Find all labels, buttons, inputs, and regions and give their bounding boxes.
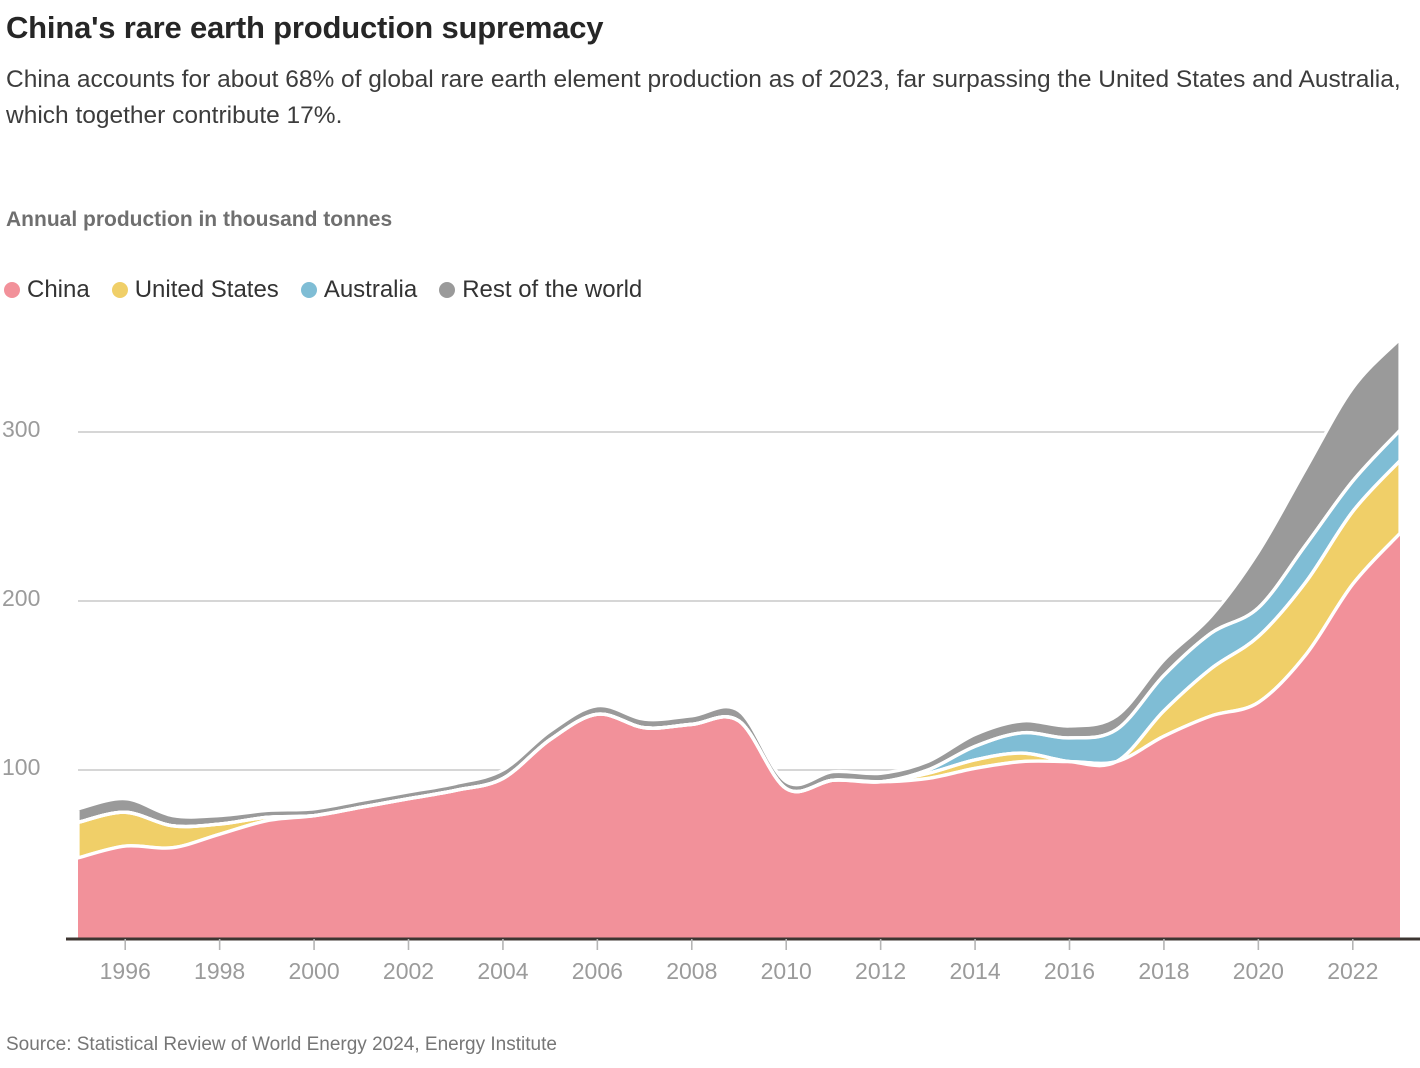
- legend-dot-australia: [301, 282, 317, 298]
- legend-item-china[interactable]: China: [4, 278, 90, 302]
- x-axis-tick-label: 2004: [477, 958, 528, 985]
- x-axis-tick-label: 2010: [761, 958, 812, 985]
- x-axis-tick-label: 1998: [194, 958, 245, 985]
- chart-plot-area: [0, 330, 1420, 950]
- y-axis-tick-label: 200: [2, 585, 40, 612]
- x-axis-tick-label: 1996: [100, 958, 151, 985]
- y-axis-tick-label: 100: [2, 754, 40, 781]
- legend-label-united-states: United States: [135, 278, 279, 302]
- x-axis-tick-label: 2012: [855, 958, 906, 985]
- x-axis-tick-label: 2018: [1138, 958, 1189, 985]
- x-axis-tick-label: 2022: [1327, 958, 1378, 985]
- page-title: China's rare earth production supremacy: [6, 10, 603, 46]
- legend-item-united-states[interactable]: United States: [112, 278, 279, 302]
- x-axis-tick-label: 2000: [288, 958, 339, 985]
- legend-item-australia[interactable]: Australia: [301, 278, 417, 302]
- x-axis-tick-label: 2002: [383, 958, 434, 985]
- legend-dot-united-states: [112, 282, 128, 298]
- x-axis-tick-label: 2008: [666, 958, 717, 985]
- x-axis-labels: 1996199820002002200420062008201020122014…: [0, 952, 1420, 992]
- y-axis-tick-label: 300: [2, 416, 40, 443]
- legend-dot-china: [4, 282, 20, 298]
- legend-label-china: China: [27, 278, 90, 302]
- legend-dot-rest-of-the-world: [439, 282, 455, 298]
- x-axis-tick-label: 2016: [1044, 958, 1095, 985]
- page-subtitle: China accounts for about 68% of global r…: [6, 62, 1418, 134]
- legend-label-rest-of-the-world: Rest of the world: [462, 278, 642, 302]
- chart-page: China's rare earth production supremacy …: [0, 0, 1420, 1068]
- legend-item-rest-of-the-world[interactable]: Rest of the world: [439, 278, 642, 302]
- x-axis-tick-label: 2006: [572, 958, 623, 985]
- source-note: Source: Statistical Review of World Ener…: [6, 1034, 557, 1056]
- x-axis-tick-label: 2014: [949, 958, 1000, 985]
- chart-axis-title: Annual production in thousand tonnes: [6, 208, 392, 232]
- legend-label-australia: Australia: [324, 278, 417, 302]
- stacked-area-chart: [0, 330, 1420, 950]
- x-axis-tick-label: 2020: [1233, 958, 1284, 985]
- chart-legend: China United States Australia Rest of th…: [4, 278, 664, 302]
